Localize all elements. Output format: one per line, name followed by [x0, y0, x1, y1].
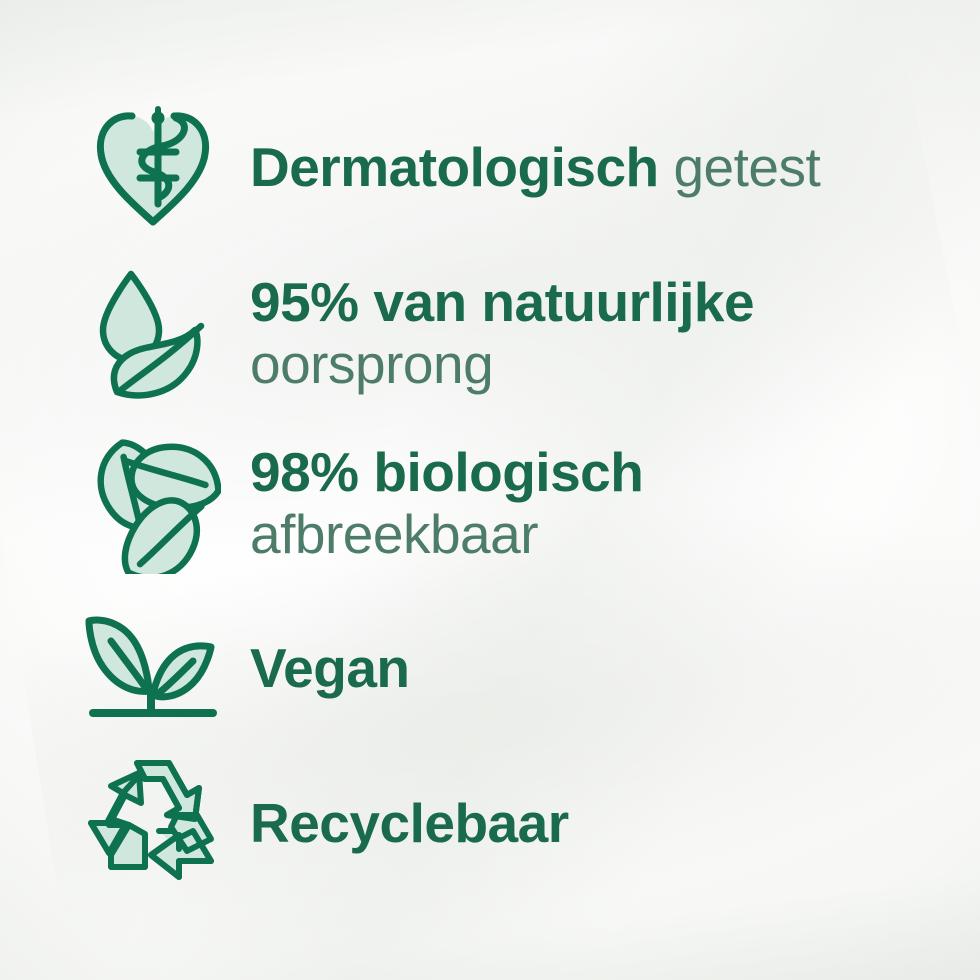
- feature-bold-text: Dermatologisch: [250, 136, 659, 198]
- feature-bold-text: 98% biologisch: [250, 442, 643, 504]
- feature-row-dermatologically-tested: Dermatologisch getest: [78, 100, 820, 234]
- product-claims-poster: Dermatologisch getest 95% van natuurlijk…: [0, 0, 980, 980]
- feature-list: Dermatologisch getest 95% van natuurlijk…: [0, 0, 980, 980]
- feature-light-text: getest: [673, 136, 820, 198]
- feature-light-text: afbreekbaar: [250, 504, 643, 566]
- feature-row-biodegradable: 98% biologisch afbreekbaar: [78, 424, 643, 584]
- feature-label-dermatologically-tested: Dermatologisch getest: [250, 139, 820, 195]
- droplet-leaf-icon: [78, 264, 228, 404]
- feature-row-vegan: Vegan: [78, 600, 410, 736]
- recycling-arrows-icon: [78, 755, 228, 891]
- feature-light-text: oorsprong: [250, 334, 754, 396]
- feature-row-natural-origin: 95% van natuurlijke oorsprong: [78, 254, 754, 414]
- feature-bold-text: Vegan: [250, 640, 410, 696]
- feature-label-natural-origin: 95% van natuurlijke oorsprong: [250, 272, 754, 395]
- feature-label-biodegradable: 98% biologisch afbreekbaar: [250, 442, 643, 565]
- three-leaves-cycle-icon: [78, 434, 228, 574]
- heart-caduceus-icon: [78, 104, 228, 230]
- feature-label-recyclable: Recyclebaar: [250, 795, 569, 851]
- feature-bold-text: 95% van natuurlijke: [250, 272, 754, 334]
- feature-row-recyclable: Recyclebaar: [78, 748, 569, 898]
- feature-label-vegan: Vegan: [250, 640, 410, 696]
- sprout-icon: [78, 613, 228, 723]
- feature-bold-text: Recyclebaar: [250, 795, 569, 851]
